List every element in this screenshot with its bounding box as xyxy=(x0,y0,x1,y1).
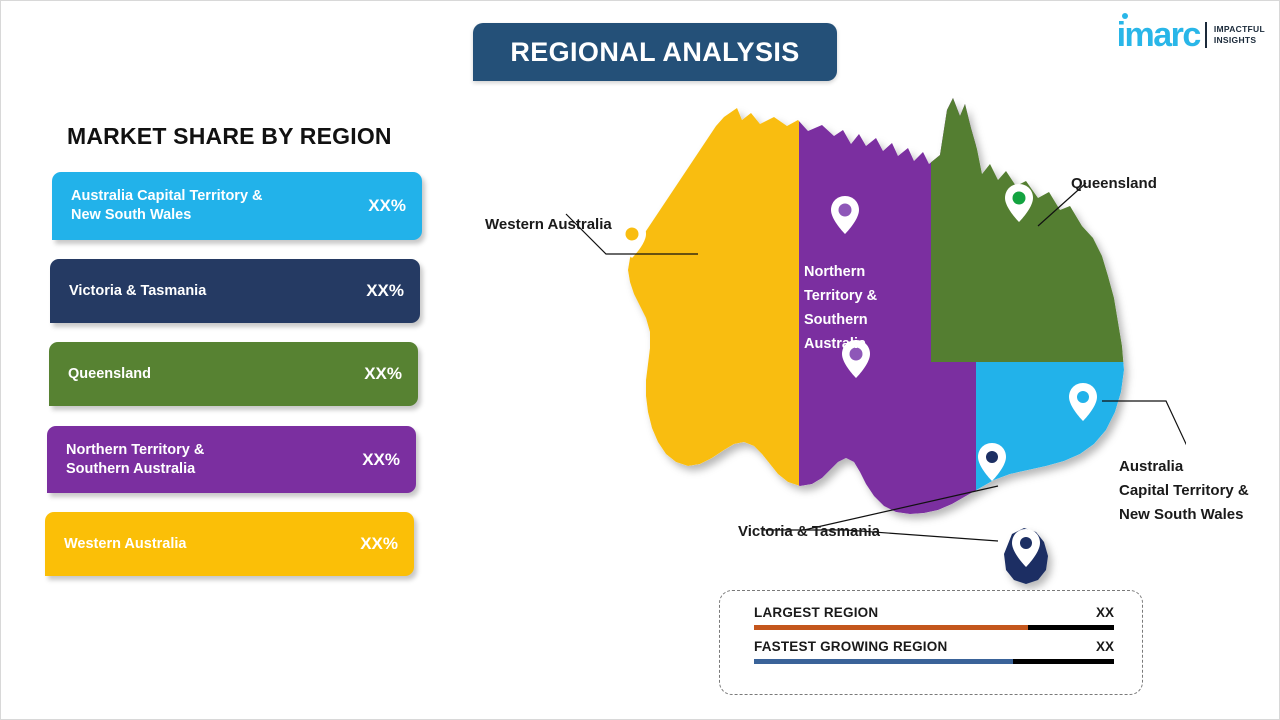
region-highlight-fill xyxy=(754,625,1028,630)
market-share-bar-value: XX% xyxy=(368,196,406,216)
region-highlight-value: XX xyxy=(1096,605,1114,620)
market-share-heading: MARKET SHARE BY REGION xyxy=(67,123,392,150)
region-highlight-track xyxy=(754,625,1114,630)
region-highlight-row: FASTEST GROWING REGIONXX xyxy=(754,639,1114,664)
market-share-bar[interactable]: QueenslandXX% xyxy=(49,342,418,406)
map-callout-queensland: Queensland xyxy=(1071,172,1157,196)
logo-divider xyxy=(1205,22,1207,48)
market-share-bar[interactable]: Victoria & TasmaniaXX% xyxy=(50,259,420,323)
map-region-southern-australia[interactable] xyxy=(799,361,976,596)
region-highlight-row: LARGEST REGIONXX xyxy=(754,605,1114,630)
region-highlight-value: XX xyxy=(1096,639,1114,654)
logo-tagline-line1: IMPACTFUL xyxy=(1214,24,1265,34)
logo-wordmark: imarc xyxy=(1117,18,1200,52)
page-title: REGIONAL ANALYSIS xyxy=(510,37,799,68)
market-share-bar[interactable]: Australia Capital Territory & New South … xyxy=(52,172,422,240)
region-highlight-track xyxy=(754,659,1114,664)
slide-canvas: REGIONAL ANALYSIS imarc IMPACTFUL INSIGH… xyxy=(0,0,1280,720)
market-share-bar[interactable]: Western AustraliaXX% xyxy=(45,512,414,576)
market-share-bar-value: XX% xyxy=(360,534,398,554)
logo-tagline: IMPACTFUL INSIGHTS xyxy=(1214,24,1265,46)
market-share-bar-label: Victoria & Tasmania xyxy=(69,282,356,301)
market-share-bar-value: XX% xyxy=(364,364,402,384)
map-inline-label-northern-territory: Northern Territory & Southern Australia xyxy=(804,260,896,356)
logo-dot-icon xyxy=(1122,13,1128,19)
market-share-bar-label: Western Australia xyxy=(64,535,350,554)
region-highlight-label: LARGEST REGION xyxy=(754,605,878,620)
imarc-logo: imarc IMPACTFUL INSIGHTS xyxy=(1117,15,1265,55)
market-share-bar[interactable]: Northern Territory & Southern AustraliaX… xyxy=(47,426,416,493)
map-callout-act-nsw: Australia Capital Territory & New South … xyxy=(1119,455,1249,527)
region-highlights-box: LARGEST REGIONXXFASTEST GROWING REGIONXX xyxy=(719,590,1143,695)
market-share-bar-label: Australia Capital Territory & New South … xyxy=(71,187,358,225)
market-share-bar-label: Northern Territory & Southern Australia xyxy=(66,441,352,479)
market-share-bar-value: XX% xyxy=(366,281,404,301)
map-region-queensland[interactable] xyxy=(931,86,1186,362)
page-title-banner: REGIONAL ANALYSIS xyxy=(473,23,837,81)
market-share-bar-label: Queensland xyxy=(68,365,354,384)
market-share-bar-value: XX% xyxy=(362,450,400,470)
logo-tagline-line2: INSIGHTS xyxy=(1214,35,1257,45)
logo-wordmark-text: imarc xyxy=(1117,16,1200,54)
map-callout-western-australia: Western Australia xyxy=(485,213,612,237)
region-highlight-fill xyxy=(754,659,1013,664)
map-callout-victoria-tasmania: Victoria & Tasmania xyxy=(738,520,880,544)
region-highlight-label: FASTEST GROWING REGION xyxy=(754,639,947,654)
